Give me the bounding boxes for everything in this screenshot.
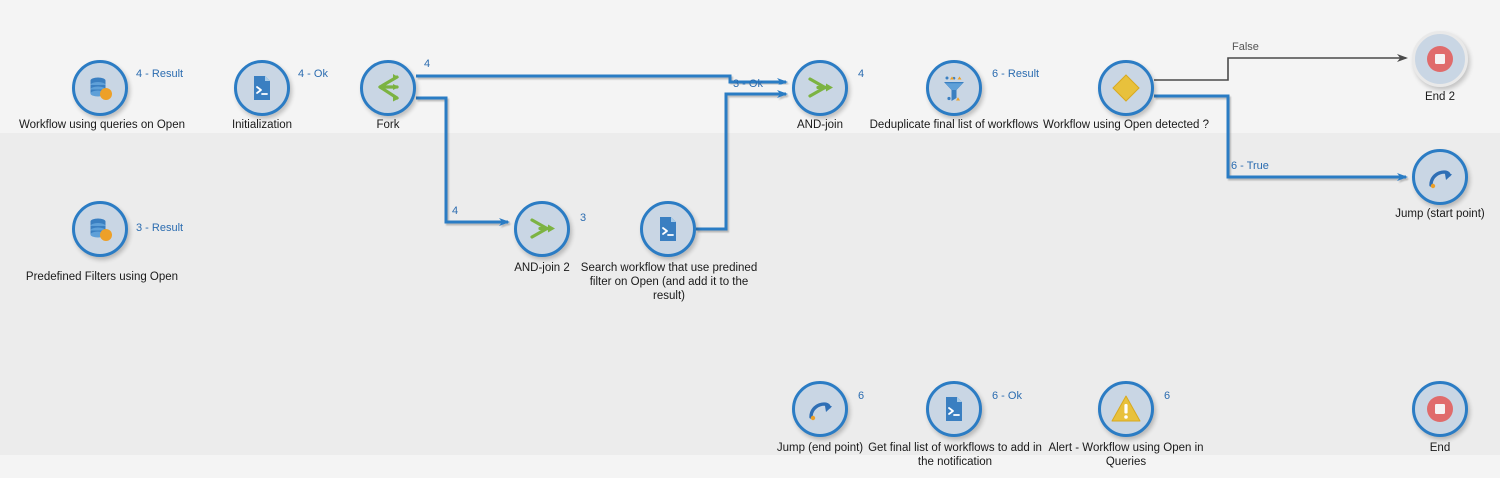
workflow-diagram-canvas[interactable]: Workflow using queries on OpenInitializa… [0, 0, 1500, 478]
database-icon [85, 73, 115, 103]
database-icon [85, 214, 115, 244]
node-jump-end-point[interactable] [792, 381, 848, 437]
fork-icon [373, 73, 403, 103]
band-bottom [0, 455, 1500, 478]
node-and-join-2[interactable] [514, 201, 570, 257]
node-initialization[interactable] [234, 60, 290, 116]
jump-icon [1425, 162, 1455, 192]
decision-icon [1111, 73, 1141, 103]
jump-icon [805, 394, 835, 424]
node-get-final-list[interactable] [926, 381, 982, 437]
node-search-workflow-predefined[interactable] [640, 201, 696, 257]
node-alert-workflow-open[interactable] [1098, 381, 1154, 437]
band-middle [0, 133, 1500, 455]
node-end-2[interactable] [1412, 31, 1468, 87]
node-end[interactable] [1412, 381, 1468, 437]
script-icon [939, 394, 969, 424]
node-deduplicate[interactable] [926, 60, 982, 116]
script-icon [653, 214, 683, 244]
node-and-join[interactable] [792, 60, 848, 116]
join-icon [805, 73, 835, 103]
stop-icon [1425, 394, 1455, 424]
node-workflow-open-detected[interactable] [1098, 60, 1154, 116]
stop-icon [1425, 44, 1455, 74]
filter-icon [939, 73, 969, 103]
script-icon [247, 73, 277, 103]
node-fork[interactable] [360, 60, 416, 116]
band-top [0, 0, 1500, 133]
node-jump-start-point[interactable] [1412, 149, 1468, 205]
alert-icon [1111, 394, 1141, 424]
node-predefined-filters-open[interactable] [72, 201, 128, 257]
node-workflow-queries-open[interactable] [72, 60, 128, 116]
join-icon [527, 214, 557, 244]
